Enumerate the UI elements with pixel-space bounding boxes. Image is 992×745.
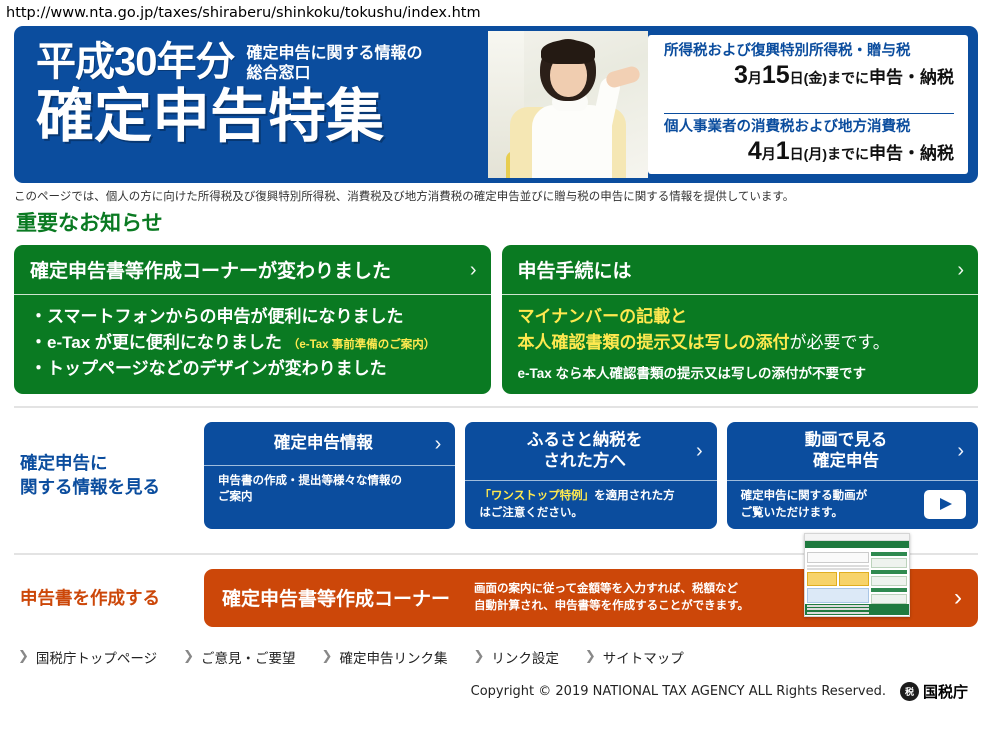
play-button-icon[interactable] — [924, 490, 966, 519]
info-section-label: 確定申告に 関する情報を見る — [14, 451, 204, 500]
notice-item-text: ・トップページなどのデザインが変わりました — [30, 359, 387, 378]
thumbnail-main-column — [805, 548, 871, 604]
notice-card-filing-procedure[interactable]: 申告手続には › マイナンバーの記載と 本人確認書類の提示又は写しの添付が必要で… — [502, 245, 979, 394]
footer-link-link-policy[interactable]: ❯ リンク設定 — [473, 647, 558, 667]
thumbnail-body — [805, 548, 909, 604]
info-card-filing-information[interactable]: 確定申告情報 › 申告書の作成・提出等様々な情報の ご案内 — [204, 422, 455, 529]
chevron-right-icon: › — [427, 434, 442, 454]
thumbnail-yellow-buttons — [807, 572, 869, 586]
page-title: 重要なお知らせ — [16, 207, 978, 237]
info-card-header: 確定申告情報 › — [204, 422, 455, 466]
thumbnail-yellow-button — [807, 572, 837, 586]
thumbnail-line — [807, 605, 869, 607]
deadline-month: 4 — [748, 137, 762, 165]
chevron-right-icon: › — [688, 441, 703, 461]
notice-card-header[interactable]: 申告手続には › — [502, 245, 979, 295]
thumbnail-line — [807, 612, 869, 614]
notice-highlight-line2: 本人確認書類の提示又は写しの添付が必要です。 — [518, 330, 965, 356]
info-card-header: ふるさと納税を された方へ › — [465, 422, 716, 481]
hero-subtitle: 確定申告に関する情報の 総合窓口 — [247, 44, 423, 85]
deadline-month-unit: 月 — [762, 146, 776, 162]
thumbnail-side-header — [871, 588, 907, 592]
footer-link-nta-top[interactable]: ❯ 国税庁トップページ — [18, 647, 157, 667]
notice-item-text: ・スマートフォンからの申告が便利になりました — [30, 307, 404, 326]
chevron-right-icon: ❯ — [18, 649, 29, 664]
footer-link-label: ご意見・ご要望 — [201, 647, 296, 667]
notice-highlight-emphasis: 本人確認書類の提示又は写しの添付 — [518, 333, 790, 352]
thumbnail-side-header — [871, 552, 907, 556]
copyright-row: Copyright © 2019 NATIONAL TAX AGENCY ALL… — [14, 667, 978, 702]
chevron-right-icon: › — [462, 260, 477, 280]
info-card-video[interactable]: 動画で見る 確定申告 › 確定申告に関する動画が ご覧いただけます。 — [727, 422, 978, 529]
browser-url-bar[interactable]: http://www.nta.go.jp/taxes/shiraberu/shi… — [0, 0, 992, 26]
notice-card-body: ・スマートフォンからの申告が便利になりました ・e-Tax が更に便利になりまし… — [14, 295, 491, 393]
notice-highlight-line1: マイナンバーの記載と — [518, 304, 965, 330]
footer-links: ❯ 国税庁トップページ ❯ ご意見・ご要望 ❯ 確定申告リンク集 ❯ リンク設定… — [14, 637, 978, 667]
info-card-description: 確定申告に関する動画が ご覧いただけます。 — [741, 488, 868, 521]
deadline-date: 4月1日(月)までに申告・納税 — [664, 137, 954, 166]
notice-card-body: マイナンバーの記載と 本人確認書類の提示又は写しの添付が必要です。 e-Tax … — [502, 295, 979, 394]
deadline-label: 所得税および復興特別所得税・贈与税 — [664, 43, 954, 60]
thumbnail-yellow-button — [839, 572, 869, 586]
deadline-date: 3月15日(金)までに申告・納税 — [664, 61, 954, 90]
thumbnail-blue-banner — [807, 588, 869, 603]
chevron-right-icon: ❯ — [585, 649, 596, 664]
photo-hair-fringe — [541, 40, 595, 64]
footer-link-feedback[interactable]: ❯ ご意見・ご要望 — [183, 647, 295, 667]
hero-left: 平成30年分 確定申告に関する情報の 総合窓口 確定申告特集 — [14, 26, 474, 183]
info-card-description-emphasis: 「ワンストップ特例」 — [479, 490, 594, 502]
deadline-label: 個人事業者の消費税および地方消費税 — [664, 119, 954, 136]
notice-list-item: ・スマートフォンからの申告が便利になりました — [30, 304, 477, 330]
chevron-right-icon: ❯ — [183, 649, 194, 664]
create-section: 申告書を作成する 確定申告書等作成コーナー 画面の案内に従って金額等を入力すれば… — [14, 555, 978, 637]
footer-link-label: 確定申告リンク集 — [339, 647, 447, 667]
nta-agency-name: 国税庁 — [923, 681, 968, 702]
notice-card-title: 申告手続には — [518, 256, 632, 283]
info-card-description: 申告書の作成・提出等様々な情報の ご案内 — [218, 473, 402, 506]
nta-agency-logo: 税 国税庁 — [900, 681, 968, 702]
footer-link-sitemap[interactable]: ❯ サイトマップ — [585, 647, 684, 667]
info-card-title: 動画で見る 確定申告 — [743, 430, 950, 472]
deadline-action: 申告・納税 — [869, 68, 954, 87]
thumbnail-line — [807, 568, 869, 570]
hero-title: 確定申告特集 — [36, 87, 474, 146]
copyright-text: Copyright © 2019 NATIONAL TAX AGENCY ALL… — [471, 684, 886, 699]
info-card-body: 確定申告に関する動画が ご覧いただけます。 — [727, 481, 978, 529]
hero-year-label: 平成30年分 — [36, 42, 235, 82]
info-card-body: 申告書の作成・提出等様々な情報の ご案内 — [204, 466, 455, 529]
page-content: 平成30年分 確定申告に関する情報の 総合窓口 確定申告特集 所得税および復興特… — [0, 26, 992, 702]
deadline-month-unit: 月 — [748, 70, 762, 86]
hero-top-row: 平成30年分 確定申告に関する情報の 総合窓口 — [36, 42, 474, 85]
deadline-day-unit: 日 — [790, 70, 804, 86]
thumbnail-side-box — [871, 558, 907, 568]
footer-link-label: サイトマップ — [603, 647, 684, 667]
page-lead-text: このページでは、個人の方に向けた所得税及び復興特別所得税、消費税及び地方消費税の… — [14, 188, 978, 204]
chevron-right-icon: ❯ — [322, 649, 333, 664]
deadline-consumption-tax: 個人事業者の消費税および地方消費税 4月1日(月)までに申告・納税 — [664, 113, 954, 169]
info-section: 確定申告に 関する情報を見る 確定申告情報 › 申告書の作成・提出等様々な情報の… — [14, 408, 978, 541]
chevron-right-icon: ❯ — [473, 649, 484, 664]
create-corner-title: 確定申告書等作成コーナー — [222, 584, 450, 611]
info-card-body: 「ワンストップ特例」を適用された方 はご注意ください。 — [465, 481, 716, 529]
notice-card-header[interactable]: 確定申告書等作成コーナーが変わりました › — [14, 245, 491, 295]
notice-highlight-tail: が必要です。 — [790, 333, 890, 352]
notice-item-text: ・e-Tax が更に便利になりました — [30, 333, 282, 352]
deadline-action: 申告・納税 — [869, 144, 954, 163]
hero-photo-woman — [488, 31, 648, 178]
info-card-title: ふるさと納税を された方へ — [481, 430, 688, 472]
info-card-title: 確定申告情報 — [220, 433, 427, 454]
thumbnail-side-box — [871, 576, 907, 586]
info-card-header: 動画で見る 確定申告 › — [727, 422, 978, 481]
info-card-row: 確定申告情報 › 申告書の作成・提出等様々な情報の ご案内 ふるさと納税を され… — [204, 422, 978, 529]
deadline-day: 15 — [762, 61, 790, 89]
hero-banner: 平成30年分 確定申告に関する情報の 総合窓口 確定申告特集 所得税および復興特… — [14, 26, 978, 183]
notice-subnote: e-Tax なら本人確認書類の提示又は写しの添付が不要です — [518, 362, 965, 382]
info-card-description: 「ワンストップ特例」を適用された方 はご注意ください。 — [479, 488, 674, 521]
deadline-weekday: (月) — [804, 146, 827, 162]
thumbnail-browser-bar — [805, 534, 909, 541]
deadline-tail: までに — [827, 70, 869, 86]
deadline-weekday: (金) — [804, 70, 827, 86]
deadline-panel: 所得税および復興特別所得税・贈与税 3月15日(金)までに申告・納税 個人事業者… — [648, 35, 968, 174]
deadline-income-tax: 所得税および復興特別所得税・贈与税 3月15日(金)までに申告・納税 — [664, 40, 954, 93]
deadline-day: 1 — [776, 137, 790, 165]
notice-card-title: 確定申告書等作成コーナーが変わりました — [30, 256, 391, 283]
thumbnail-side-column — [871, 548, 909, 604]
notice-card-creation-corner[interactable]: 確定申告書等作成コーナーが変わりました › ・スマートフォンからの申告が便利にな… — [14, 245, 491, 394]
thumbnail-line — [807, 608, 869, 610]
notice-card-row: 確定申告書等作成コーナーが変わりました › ・スマートフォンからの申告が便利にな… — [14, 245, 978, 394]
nta-seal-icon: 税 — [900, 682, 919, 701]
create-section-label: 申告書を作成する — [14, 585, 204, 610]
thumbnail-line — [807, 565, 869, 567]
chevron-right-icon: › — [949, 260, 964, 280]
footer-link-label: 国税庁トップページ — [36, 647, 157, 667]
thumbnail-side-header — [871, 570, 907, 574]
create-corner-thumbnail — [804, 533, 910, 617]
footer-link-label: リンク設定 — [491, 647, 559, 667]
deadline-month: 3 — [734, 61, 748, 89]
deadline-day-unit: 日 — [790, 146, 804, 162]
info-card-hometown-tax[interactable]: ふるさと納税を された方へ › 「ワンストップ特例」を適用された方 はご注意くだ… — [465, 422, 716, 529]
thumbnail-side-box — [871, 594, 907, 604]
chevron-right-icon: › — [944, 586, 962, 610]
deadline-tail: までに — [827, 146, 869, 162]
notice-list-item: ・e-Tax が更に便利になりました（e-Tax 事前準備のご案内） — [30, 330, 477, 356]
footer-link-tax-return-links[interactable]: ❯ 確定申告リンク集 — [322, 647, 448, 667]
notice-item-note[interactable]: （e-Tax 事前準備のご案内） — [288, 339, 435, 351]
notice-list-item: ・トップページなどのデザインが変わりました — [30, 356, 477, 382]
thumbnail-box — [807, 552, 869, 563]
chevron-right-icon: › — [949, 441, 964, 461]
thumbnail-site-header — [805, 541, 909, 548]
